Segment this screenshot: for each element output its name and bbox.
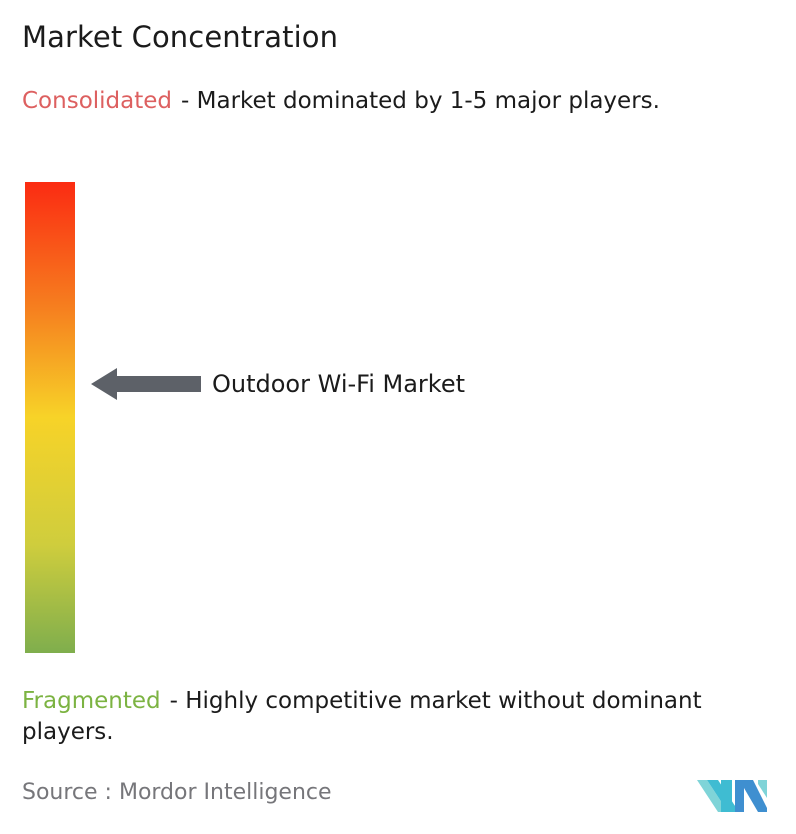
page-title: Market Concentration xyxy=(22,18,338,56)
legend-term-fragmented: Fragmented xyxy=(22,688,161,714)
source-note: Source : Mordor Intelligence xyxy=(22,778,332,808)
legend-term-consolidated: Consolidated xyxy=(22,88,172,114)
mordor-intelligence-logo xyxy=(697,772,769,814)
market-callout-label: Outdoor Wi-Fi Market xyxy=(212,369,465,400)
legend-fragmented: Fragmented- Highly competitive market wi… xyxy=(22,686,782,748)
legend-consolidated: Consolidated- Market dominated by 1-5 ma… xyxy=(22,86,782,117)
concentration-gradient-bar xyxy=(25,182,75,653)
legend-description-consolidated: - Market dominated by 1-5 major players. xyxy=(181,88,660,114)
market-concentration-chart: Market Concentration Consolidated- Marke… xyxy=(0,0,796,834)
arrow-left-icon xyxy=(91,366,201,402)
market-callout: Outdoor Wi-Fi Market xyxy=(91,363,465,405)
